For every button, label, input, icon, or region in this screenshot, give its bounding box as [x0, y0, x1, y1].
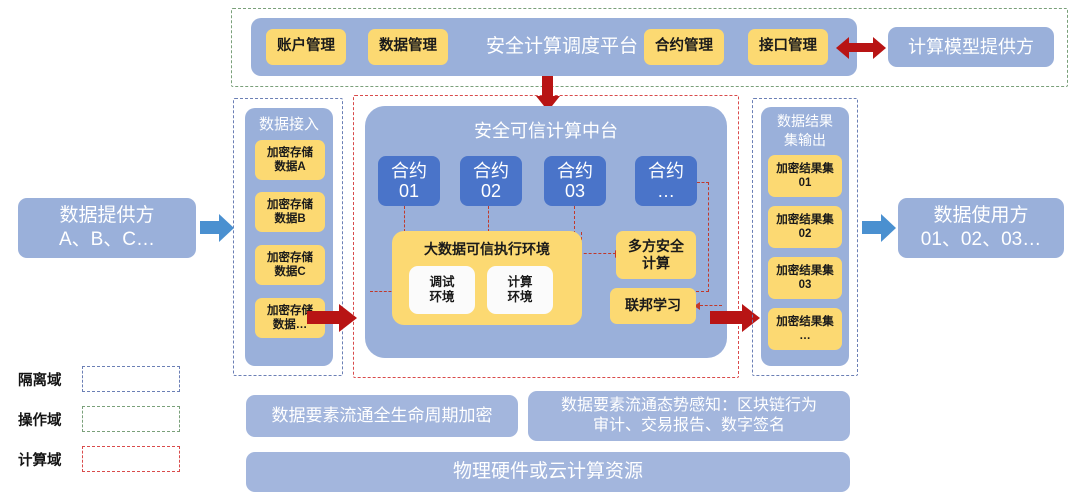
encrypted-storage-c-line1: 加密存储 [267, 251, 313, 265]
connector-cmore-v [708, 182, 709, 292]
encrypted-result-02-line1: 加密结果集 [776, 213, 834, 227]
encrypted-result-03-line1: 加密结果集 [776, 264, 834, 278]
contract-03-line1: 合约 [557, 161, 593, 181]
core-platform-title: 安全可信计算中台 [365, 120, 727, 143]
debug-environment-line1: 调试 [429, 275, 454, 290]
contract-02: 合约 02 [460, 156, 522, 206]
legend-swatch-operation [82, 406, 180, 432]
contract-01: 合约 01 [378, 156, 440, 206]
legend-label-operation: 操作域 [18, 407, 84, 431]
encrypted-storage-a-line2: 数据A [274, 160, 305, 174]
contract-01-line2: 01 [399, 181, 419, 201]
encrypted-storage-c-line2: 数据C [274, 265, 305, 279]
data-provider-line2: A、B、C… [59, 228, 155, 252]
awareness-bar-line1: 数据要素流通态势感知：区块链行为 [561, 396, 817, 416]
legend-swatch-compute [82, 446, 180, 472]
encrypted-result-01-line1: 加密结果集 [776, 162, 834, 176]
encrypted-storage-c: 加密存储 数据C [255, 245, 325, 285]
btn-account-management[interactable]: 账户管理 [266, 29, 346, 65]
contract-more-line1: 合约 [648, 161, 684, 181]
encrypted-storage-a-line1: 加密存储 [267, 146, 313, 160]
data-consumer-line1: 数据使用方 [933, 204, 1028, 228]
encrypted-result-03: 加密结果集 03 [768, 257, 842, 299]
encrypted-storage-a: 加密存储 数据A [255, 140, 325, 180]
tee-title: 大数据可信执行环境 [392, 241, 582, 258]
contract-02-line2: 02 [481, 181, 501, 201]
bidirectional-arrow-model-provider [836, 37, 886, 59]
encrypted-result-01: 加密结果集 01 [768, 155, 842, 197]
compute-environment-line1: 计算 [507, 275, 532, 290]
legend-swatch-isolation [82, 366, 180, 392]
mpc-line2: 计算 [642, 255, 670, 272]
btn-data-management[interactable]: 数据管理 [368, 29, 448, 65]
encrypted-result-01-line2: 01 [799, 176, 812, 190]
data-provider-box: 数据提供方 A、B、C… [18, 198, 196, 258]
result-output-title-line2: 集输出 [761, 132, 849, 150]
contract-02-line1: 合约 [473, 161, 509, 181]
contract-01-line1: 合约 [391, 161, 427, 181]
infrastructure-bar: 物理硬件或云计算资源 [246, 452, 850, 492]
contract-more: 合约 … [635, 156, 697, 206]
encrypted-result-02-line2: 02 [799, 227, 812, 241]
awareness-bar: 数据要素流通态势感知：区块链行为 审计、交易报告、数字签名 [528, 391, 850, 441]
connector-c02-v [488, 206, 489, 232]
mpc-box: 多方安全 计算 [616, 231, 696, 279]
connector-c01-v [404, 206, 405, 232]
model-provider-box: 计算模型提供方 [888, 27, 1054, 67]
encrypted-result-02: 加密结果集 02 [768, 206, 842, 248]
encrypted-result-more: 加密结果集 … [768, 308, 842, 350]
data-provider-line1: 数据提供方 [59, 204, 154, 228]
mpc-line1: 多方安全 [628, 238, 684, 255]
encrypted-storage-b-line1: 加密存储 [267, 198, 313, 212]
encrypted-result-03-line2: 03 [799, 278, 812, 292]
architecture-diagram: 安全计算调度平台 账户管理 数据管理 合约管理 接口管理 计算模型提供方 数据接… [0, 0, 1080, 503]
btn-contract-management[interactable]: 合约管理 [644, 29, 724, 65]
encrypted-storage-more-line2: 数据… [273, 318, 308, 332]
arrow-provider-to-access [200, 214, 234, 242]
arrow-output-to-consumer [862, 214, 896, 242]
data-consumer-line2: 01、02、03… [921, 228, 1041, 252]
debug-environment: 调试 环境 [409, 266, 475, 314]
federated-learning-box: 联邦学习 [610, 288, 696, 324]
contract-03: 合约 03 [544, 156, 606, 206]
platform-title: 安全计算调度平台 [467, 35, 657, 59]
compute-environment-line2: 环境 [507, 290, 532, 305]
data-consumer-box: 数据使用方 01、02、03… [898, 198, 1064, 258]
contract-03-line2: 03 [565, 181, 585, 201]
compute-environment: 计算 环境 [487, 266, 553, 314]
encrypted-storage-b-line2: 数据B [274, 212, 305, 226]
encrypted-storage-b: 加密存储 数据B [255, 192, 325, 232]
encryption-bar: 数据要素流通全生命周期加密 [246, 395, 518, 437]
contract-more-line2: … [657, 181, 675, 201]
encrypted-result-more-line2: … [799, 329, 811, 343]
awareness-bar-line2: 审计、交易报告、数字签名 [593, 416, 785, 436]
data-access-title: 数据接入 [245, 116, 333, 135]
result-output-title-line1: 数据结果 [761, 113, 849, 131]
debug-environment-line2: 环境 [429, 290, 454, 305]
legend-label-compute: 计算域 [18, 447, 84, 471]
btn-interface-management[interactable]: 接口管理 [748, 29, 828, 65]
legend-label-isolation: 隔离域 [18, 367, 84, 391]
connector-cmore-h-top [697, 182, 709, 183]
arrow-access-to-core [307, 304, 363, 332]
encrypted-result-more-line1: 加密结果集 [776, 315, 834, 329]
